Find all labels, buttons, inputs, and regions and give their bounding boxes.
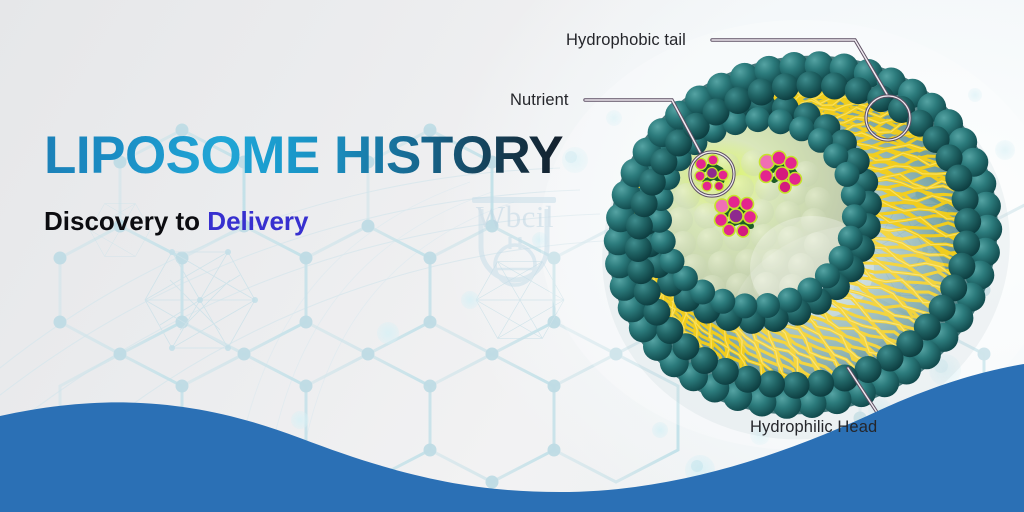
- hydrophobic-tail-strand: [641, 189, 649, 209]
- hydrophobic-tail-strand: [647, 260, 656, 297]
- hydrophobic-tail-strand: [794, 96, 854, 104]
- hydrophobic-tail-strand: [671, 298, 690, 343]
- hydrophilic-head-sphere: [667, 146, 692, 171]
- hydrophobic-tail-strand: [673, 294, 687, 339]
- hydrophobic-tail-strand: [696, 312, 719, 361]
- hydrophobic-tail-strand: [876, 226, 959, 254]
- hydrophobic-tail-strand: [666, 138, 682, 153]
- hydrophilic-head-sphere: [805, 288, 832, 315]
- hydrophilic-head-sphere: [634, 279, 661, 306]
- hydrophobic-tail-strand: [833, 303, 905, 340]
- hydrophobic-tail-highlight: [742, 90, 786, 100]
- hydrophilic-head-sphere: [835, 162, 860, 187]
- wave-shape: [0, 364, 1024, 512]
- hydrophilic-head-sphere: [936, 144, 963, 171]
- hydrophilic-head-sphere: [625, 235, 652, 262]
- hydrophilic-head-sphere: [631, 190, 658, 217]
- hydrophobic-tail-strand: [797, 97, 859, 104]
- hydrophilic-head-sphere: [710, 289, 735, 314]
- hydrophobic-tail-strand: [738, 329, 777, 379]
- hydrophobic-tail-strand: [862, 266, 939, 303]
- liposome-history-banner: Wbcil LIPOSOME HISTORY Discovery to Deli…: [0, 0, 1024, 512]
- subtitle-dark-part: Discovery to: [44, 206, 207, 236]
- hydrophobic-tail-strand: [760, 328, 804, 379]
- hydrophobic-tail-strand: [869, 166, 952, 180]
- hydrophilic-head-sphere: [691, 347, 718, 374]
- hydrophilic-head-sphere: [815, 263, 840, 288]
- hydrophobic-tail-highlight: [639, 243, 651, 275]
- hydrophobic-tail-strand: [672, 302, 695, 346]
- hydrophobic-tail-strand: [812, 103, 879, 110]
- hydrophilic-head-sphere: [685, 86, 714, 115]
- hydrophilic-head-sphere: [762, 305, 789, 332]
- hydrophobic-tail-strand: [877, 199, 962, 219]
- hydrophobic-tail-strand: [875, 195, 961, 210]
- hydrophilic-head-sphere: [805, 51, 834, 80]
- hydrophobic-tail-strand: [841, 122, 916, 133]
- hydrophilic-head-sphere: [898, 79, 927, 108]
- hydrophilic-head-sphere: [674, 285, 701, 312]
- hydrophobic-tail-highlight: [767, 89, 819, 101]
- hydrophobic-tail-highlight: [862, 266, 939, 303]
- hydrophilic-head-sphere: [693, 297, 720, 324]
- hydrophobic-tail-strand: [811, 316, 875, 360]
- nutrient-molecules: [695, 151, 802, 237]
- hydrophobic-tail-strand: [832, 117, 905, 124]
- hydrophobic-tail-strand: [679, 123, 701, 135]
- hydrophobic-tail-strand: [758, 89, 807, 97]
- hydrophobic-tail-strand: [854, 138, 933, 151]
- hydrophilic-head-sphere: [972, 192, 1001, 221]
- hydrophilic-head-sphere: [643, 332, 672, 361]
- hydrophilic-head-sphere: [944, 304, 973, 333]
- inner-head-ring: [632, 92, 882, 334]
- hydrophilic-head-sphere: [700, 374, 729, 403]
- hydrophobic-tail-strand: [645, 173, 658, 186]
- hydrophobic-tail-strand: [710, 323, 742, 371]
- hydrophobic-tail-strand: [875, 228, 960, 247]
- hydrophobic-tail-strand: [637, 204, 647, 228]
- hydrophobic-tail-strand: [639, 243, 651, 275]
- hydrophobic-tail-highlight: [710, 316, 733, 368]
- hydrophobic-tail-highlight: [849, 133, 927, 142]
- hydrophobic-tail-strand: [646, 174, 657, 190]
- hydrophobic-tail-highlight: [832, 117, 905, 124]
- hydrophilic-head-sphere: [679, 362, 708, 391]
- hydrophobic-tail-strand: [795, 321, 850, 370]
- hydrophilic-head-sphere: [724, 87, 751, 114]
- hydrophobic-tail-strand: [805, 97, 869, 111]
- hydrophilic-head-sphere: [813, 114, 840, 141]
- hydrophobic-tail-highlight: [831, 301, 897, 346]
- hydrophobic-tail-highlight: [853, 280, 930, 314]
- hydrophilic-head-sphere: [848, 235, 875, 262]
- hydrophilic-head-sphere: [784, 299, 811, 326]
- hydrophobic-tail-strand: [648, 168, 660, 181]
- hydrophobic-tail-strand: [854, 278, 927, 319]
- hydrophilic-head-sphere: [664, 126, 691, 153]
- hydrophobic-tail-strand: [875, 184, 960, 202]
- hydrophobic-tail-strand: [636, 234, 647, 265]
- hydrophobic-tail-strand: [870, 170, 954, 182]
- hydrophobic-tail-highlight: [656, 153, 670, 165]
- hydrophilic-head-sphere: [797, 71, 824, 98]
- hydrophilic-head-sphere: [712, 358, 739, 385]
- hydrophobic-tail-strand: [734, 325, 767, 378]
- hydrophobic-tail-strand: [802, 319, 860, 366]
- hydrophobic-tail-strand: [657, 281, 672, 322]
- hydrophilic-head-sphere: [639, 164, 666, 191]
- hydrophilic-head-sphere: [830, 130, 857, 157]
- hydrophobic-tail-highlight: [767, 325, 809, 379]
- hydrophobic-tail-strand: [819, 107, 887, 117]
- hydrophobic-tail-strand: [651, 162, 662, 177]
- hydrophobic-tail-strand: [685, 311, 712, 357]
- hydrophobic-tail-strand: [656, 153, 670, 165]
- hydrophilic-head-sphere: [748, 79, 775, 106]
- hydrophilic-head-sphere: [965, 261, 994, 290]
- hydrophobic-tail-strand: [877, 205, 962, 224]
- outer-head-ring: [604, 51, 1002, 419]
- hydrophobic-tail-strand: [797, 322, 856, 368]
- hydrophilic-head-sphere: [867, 85, 894, 112]
- hydrophobic-tail-highlight: [752, 328, 793, 379]
- hydrophobic-tail-highlight: [873, 239, 957, 262]
- hydrophobic-tail-highlight: [698, 111, 727, 116]
- hydrophilic-head-sphere: [956, 283, 985, 312]
- hydrophobic-tail-strand: [815, 103, 883, 112]
- hydrophilic-head-sphere: [648, 118, 677, 147]
- hydrophobic-tail-highlight: [636, 208, 645, 232]
- hydrophilic-head-sphere: [755, 56, 784, 85]
- hydrophobic-tail-strand: [659, 149, 673, 160]
- hydrophobic-tail-strand: [846, 131, 923, 138]
- hydrophobic-tail-strand: [632, 214, 647, 237]
- hydrophobic-tail-strand: [873, 239, 957, 262]
- hydrophilic-head-sphere: [807, 370, 834, 397]
- hydrophobic-tail-strand: [659, 282, 675, 325]
- hydrophobic-tail-strand: [717, 322, 747, 373]
- hydrophobic-tail-strand: [777, 325, 825, 376]
- hydrophilic-head-sphere: [896, 330, 923, 357]
- hydrophobic-tail-highlight: [696, 312, 719, 361]
- hydrophobic-tail-strand: [685, 119, 710, 127]
- hydrophilic-head-sphere: [855, 356, 882, 383]
- hydrophilic-head-sphere: [682, 111, 709, 138]
- hydrophilic-head-sphere: [959, 148, 988, 177]
- hydrophobic-tail-highlight: [779, 92, 834, 102]
- hydrophilic-head-sphere: [738, 307, 765, 334]
- hydrophobic-tail-strand: [731, 90, 771, 105]
- hydrophilic-head-sphere: [715, 304, 742, 331]
- hydrophobic-tail-strand: [723, 96, 761, 106]
- hydrophobic-tail-strand: [868, 255, 949, 285]
- hydrophilic-head-sphere: [794, 102, 821, 129]
- hydrophilic-head-sphere: [732, 293, 757, 318]
- hydrophobic-tail-highlight: [640, 254, 654, 288]
- hydrophobic-tail-strand: [808, 314, 865, 365]
- hydrophilic-head-sphere: [643, 299, 670, 326]
- hydrophobic-tail-highlight: [672, 302, 695, 346]
- hydrophobic-tail-strand: [876, 211, 962, 228]
- hydrophobic-tail-strand: [782, 92, 839, 103]
- hydrophobic-tail-highlight: [809, 316, 870, 362]
- hydrophilic-head-sphere: [657, 270, 684, 297]
- hydrophilic-head-sphere: [888, 96, 915, 123]
- hydrophobic-tail-strand: [867, 255, 946, 289]
- hydrophobic-tail-strand: [701, 107, 731, 114]
- hydrophilic-head-sphere: [823, 385, 852, 414]
- hydrophobic-tail-highlight: [731, 90, 771, 105]
- hydrophobic-tail-strand: [695, 111, 723, 122]
- hydrophilic-head-sphere: [650, 144, 677, 171]
- hydrophilic-head-sphere: [967, 169, 996, 198]
- hydrophobic-tail-strand: [864, 155, 946, 165]
- hydrophilic-head-sphere: [851, 169, 878, 196]
- hydrophobic-tail-highlight: [785, 326, 840, 373]
- hydrophilic-head-sphere: [618, 293, 647, 322]
- hydrophilic-head-sphere: [633, 138, 662, 167]
- hydrophilic-head-sphere: [755, 293, 780, 318]
- hydrophobic-tail-strand: [867, 255, 950, 280]
- hydrophobic-tail-strand: [850, 283, 924, 322]
- hydrophobic-tail-strand: [751, 91, 797, 102]
- hydrophobic-tail-highlight: [875, 189, 960, 205]
- hydrophobic-tail-strand: [855, 277, 933, 310]
- hydrophilic-head-sphere: [629, 313, 658, 342]
- hydrophobic-tail-strand: [668, 292, 684, 336]
- hydrophobic-tail-strand: [641, 183, 652, 199]
- hydrophobic-tail-strand: [838, 120, 913, 129]
- hydrophobic-tail-highlight: [679, 123, 701, 135]
- hydrophilic-head-sphere: [683, 113, 710, 140]
- hydrophobic-tail-strand: [669, 134, 689, 141]
- hydrophilic-head-sphere: [845, 77, 872, 104]
- hydrophobic-tail-strand: [767, 325, 809, 379]
- nutrient-marker: [690, 152, 734, 196]
- hydrophobic-tail-strand: [825, 308, 893, 349]
- hydrophobic-tail-strand: [709, 320, 737, 370]
- hydrophobic-tail-strand: [720, 99, 756, 108]
- hydrophilic-head-sphere: [821, 73, 848, 100]
- hydrophilic-head-sphere: [912, 340, 941, 369]
- hydrophobic-tail-highlight: [872, 179, 957, 191]
- hydrophobic-tail-highlight: [688, 116, 714, 125]
- hydrophobic-tail-highlight: [871, 174, 956, 189]
- hydrophobic-tail-strand: [872, 179, 957, 191]
- hydrophilic-head-sphere: [780, 52, 809, 81]
- hydrophilic-head-sphere: [644, 251, 671, 278]
- hydrophobic-tail-strand: [635, 198, 647, 217]
- hydrophobic-tail-strand: [747, 88, 792, 102]
- hydrophobic-tail-strand: [636, 230, 649, 260]
- hydrophobic-tail-strand: [640, 254, 654, 288]
- hydrophilic-head-sphere: [783, 372, 810, 399]
- hydrophobic-tail-highlight: [651, 162, 662, 177]
- hydrophobic-tail-strand: [875, 189, 960, 205]
- hydrophobic-tail-strand: [833, 300, 901, 343]
- hydrophobic-tail-strand: [753, 331, 798, 380]
- hydrophobic-tail-strand: [710, 316, 733, 368]
- hydrophobic-tail-strand: [639, 187, 652, 204]
- hydrophobic-tail-strand: [831, 301, 897, 346]
- hydrophobic-tail-strand: [643, 176, 653, 194]
- hydrophobic-tail-highlight: [877, 213, 962, 237]
- hydrophobic-tail-strand: [865, 162, 948, 169]
- hydrophobic-tail-strand: [853, 280, 930, 314]
- hydrophilic-head-sphere: [650, 148, 677, 175]
- hydrophilic-head-sphere: [730, 63, 759, 92]
- hydrophilic-head-sphere: [639, 169, 666, 196]
- hydrophilic-head-sphere: [808, 128, 833, 153]
- hydrophilic-head-sphere: [831, 365, 858, 392]
- hydrophobic-tail-strand: [636, 216, 647, 242]
- hydrophilic-head-sphere: [838, 226, 863, 251]
- hydrophilic-head-sphere: [854, 59, 883, 88]
- hydrophobic-tail-strand: [702, 317, 728, 366]
- hydrophobic-tail-highlight: [636, 219, 645, 247]
- hydrophilic-head-sphere: [823, 143, 848, 168]
- hydrophobic-tail-strand: [825, 108, 896, 121]
- hydrophilic-head-sphere: [797, 278, 822, 303]
- hydrophobic-tail-strand: [849, 133, 927, 142]
- hydrophilic-head-sphere: [632, 208, 659, 235]
- hydrophobic-tail-strand: [641, 246, 649, 280]
- hydrophilic-head-sphere: [747, 388, 776, 417]
- hydrophilic-head-sphere: [612, 180, 641, 209]
- hydrophobic-tail-highlight: [636, 230, 649, 260]
- hydrophobic-tail-strand: [822, 107, 892, 118]
- hydrophilic-head-sphere: [772, 390, 801, 419]
- hydrophilic-head-sphere: [855, 191, 882, 218]
- hydrophilic-head-sphere: [841, 183, 866, 208]
- hydrophobic-tail-highlight: [668, 292, 684, 336]
- hydrophilic-head-sphere: [772, 73, 799, 100]
- hydrophobic-tail-highlight: [659, 282, 675, 325]
- hydrophobic-tail-highlight: [841, 122, 916, 133]
- hydrophobic-tail-strand: [698, 111, 727, 116]
- hydrophobic-tail-strand: [739, 93, 782, 102]
- hydrophobic-tail-strand: [646, 268, 664, 305]
- hydrophobic-tail-strand: [636, 219, 645, 247]
- page-subtitle: Discovery to Delivery: [44, 206, 564, 237]
- hydrophilic-head-sphere: [842, 204, 867, 229]
- hydrophobic-tail-strand: [790, 89, 849, 105]
- hydrophobic-tail-strand: [684, 304, 702, 352]
- hydrophilic-head-sphere: [665, 101, 694, 130]
- hydrophobic-tail-strand: [636, 208, 645, 232]
- hydrophobic-tail-strand: [696, 316, 723, 364]
- hydrophobic-tail-highlight: [639, 187, 652, 204]
- hydrophobic-tail-strand: [862, 153, 944, 166]
- hydrophilic-head-sphere: [843, 148, 870, 175]
- hydrophobic-tail-highlight: [867, 255, 946, 289]
- hydrophilic-head-sphere: [605, 249, 634, 278]
- hydrophilic-head-sphere: [626, 213, 653, 240]
- hydrophobic-tail-strand: [684, 308, 706, 355]
- hydrophobic-tail-strand: [653, 273, 665, 314]
- hydrophobic-tail-highlight: [648, 264, 658, 301]
- hydrophobic-tail-strand: [808, 100, 873, 113]
- hydrophobic-tail-highlight: [812, 103, 879, 110]
- hydrophilic-head-sphere: [651, 229, 676, 254]
- hydrophobic-tail-strand: [646, 257, 657, 293]
- hydrophobic-tail-strand: [735, 94, 776, 102]
- hydrophobic-tail-strand: [676, 126, 697, 137]
- hydrophobic-tail-highlight: [653, 273, 665, 314]
- hydrophilic-head-sphere: [877, 345, 904, 372]
- hydrophilic-head-sphere: [948, 253, 975, 280]
- hydrophobic-tail-strand: [846, 290, 921, 326]
- hydrophobic-tail-strand: [659, 146, 676, 156]
- hydrophobic-tail-strand: [767, 89, 819, 101]
- hydrophilic-head-sphere: [877, 68, 906, 97]
- hydrophilic-head-sphere: [830, 54, 859, 83]
- hydrophilic-head-sphere: [892, 356, 921, 385]
- hydrophobic-tail-highlight: [862, 153, 944, 166]
- hydrophobic-tail-highlight: [856, 143, 936, 149]
- hydrophobic-tail-strand: [742, 329, 783, 379]
- hydrophobic-tail-highlight: [684, 308, 706, 355]
- hydrophobic-tail-strand: [876, 222, 961, 243]
- hydrophobic-tail-strand: [877, 213, 962, 237]
- hydrophobic-tail-strand: [661, 286, 677, 329]
- hydrophilic-head-sphere: [940, 274, 967, 301]
- hydrophobic-tail-strand: [709, 103, 742, 112]
- hydrophobic-tail-strand: [801, 97, 864, 106]
- hydrophobic-tail-strand: [859, 270, 936, 306]
- hydrophobic-tail-strand: [770, 87, 824, 101]
- hydrophobic-tail-strand: [662, 290, 680, 332]
- hydrophilic-head-sphere: [702, 118, 727, 143]
- hydrophilic-head-sphere: [929, 295, 956, 322]
- hydrophobic-tail-strand: [780, 325, 829, 376]
- hydrophobic-tail-strand: [681, 123, 705, 129]
- hydrophilic-head-sphere: [768, 109, 793, 134]
- hydrophobic-tail-highlight: [838, 297, 909, 337]
- hydrophobic-tail-strand: [843, 129, 919, 134]
- hydrophobic-tail-strand: [864, 263, 944, 294]
- hydrophobic-tail-highlight: [777, 325, 825, 376]
- hydrophobic-tail-highlight: [797, 322, 856, 368]
- hydrophobic-tail-strand: [858, 146, 939, 154]
- hydrophobic-tail-strand: [648, 264, 658, 301]
- hydrophilic-head-sphere: [604, 226, 633, 255]
- hydrophobic-tail-strand: [844, 291, 917, 330]
- hydrophobic-tail-highlight: [822, 307, 884, 355]
- hydrophobic-tail-strand: [754, 91, 802, 98]
- title-block: LIPOSOME HISTORY Discovery to Delivery: [44, 128, 564, 237]
- hydrophilic-head-sphere: [854, 213, 881, 240]
- hydrophobic-tail-strand: [876, 199, 961, 214]
- hydrophobic-tail-strand: [673, 131, 694, 140]
- hydrophobic-tail-highlight: [871, 247, 953, 276]
- hydrophobic-tail-strand: [722, 322, 752, 374]
- hydrophilic-head-sphere: [777, 288, 802, 313]
- hydrophilic-head-sphere: [798, 389, 827, 418]
- hydrophobic-tail-highlight: [646, 174, 657, 190]
- hydrophobic-tail-strand: [872, 242, 956, 267]
- hydrophilic-head-sphere: [665, 130, 692, 157]
- hydrophobic-tail-strand: [636, 192, 649, 213]
- subtitle-accent-part: Delivery: [207, 206, 308, 236]
- hydrophilic-head-sphere: [682, 130, 707, 155]
- hydrophobic-tail-strand: [636, 224, 644, 251]
- hydrophobic-tail-strand: [838, 297, 909, 337]
- hydrophobic-tail-strand: [817, 311, 879, 357]
- hydrophilic-head-sphere: [672, 333, 699, 360]
- hydrophilic-head-sphere: [656, 317, 683, 344]
